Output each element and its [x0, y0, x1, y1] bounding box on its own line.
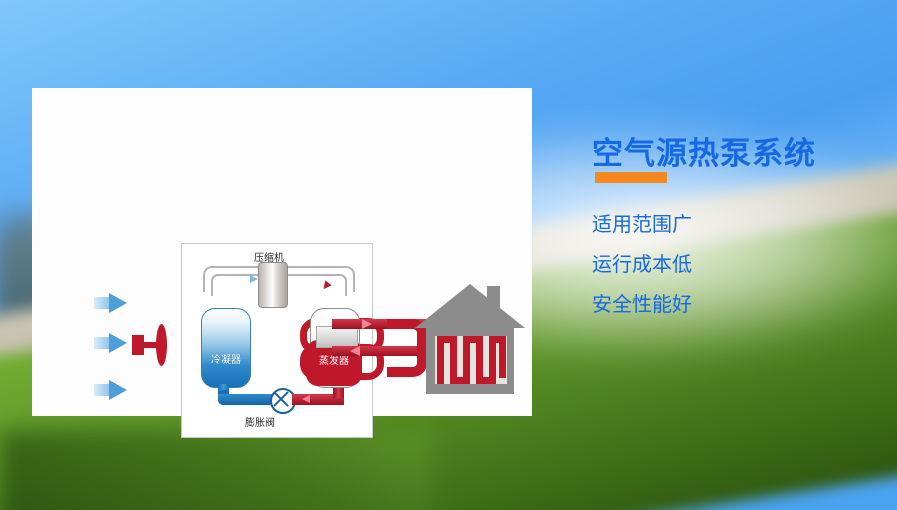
arrow-tail: [94, 297, 110, 309]
arrow-tail: [94, 384, 110, 396]
arrow-tail: [94, 337, 110, 349]
slide-canvas: 压缩机 膨胀阀 冷凝器 蒸发器: [0, 0, 897, 510]
cold-flow-arrow-icon: [250, 275, 258, 283]
condenser-label: 冷凝器: [202, 351, 250, 366]
compressor-unit: [258, 262, 288, 308]
return-flow-arrow-icon: [350, 346, 360, 356]
arrow-head: [109, 333, 127, 353]
title-underline-rule: [595, 172, 667, 183]
condenser-unit: 冷凝器: [201, 308, 251, 388]
diagram-card: 压缩机 膨胀阀 冷凝器 蒸发器: [32, 88, 532, 416]
background-grass-corner: [0, 430, 430, 510]
arrow-head: [109, 293, 127, 313]
floor-heating-coil-icon: [435, 336, 507, 384]
feature-bullet: 运行成本低: [592, 248, 692, 277]
evaporator-plate: [316, 326, 358, 348]
feature-bullet: 安全性能好: [592, 288, 692, 317]
feature-bullet: 适用范围广: [592, 208, 692, 237]
page-title: 空气源热泵系统: [592, 128, 816, 173]
roof: [415, 284, 525, 328]
expansion-valve-label: 膨胀阀: [245, 414, 275, 429]
refrigeration-cycle-diagram: 压缩机 膨胀阀 冷凝器 蒸发器: [181, 243, 373, 438]
house-icon: [415, 284, 525, 394]
arrow-head: [109, 380, 127, 400]
intake-disc: [156, 324, 167, 366]
supply-flow-arrow-icon: [362, 319, 372, 329]
suction-flow-arrow-icon: [302, 395, 310, 403]
air-intake-icon: [132, 324, 172, 366]
